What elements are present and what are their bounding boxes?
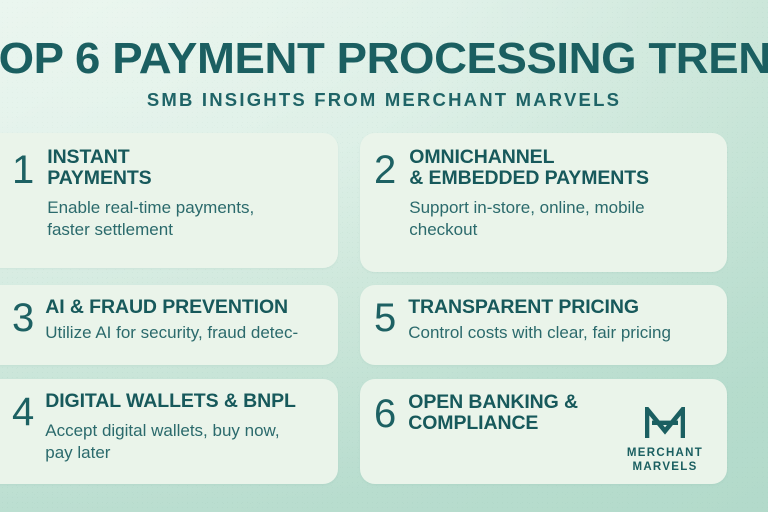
m-monogram-icon xyxy=(645,407,685,440)
trend-number: 4 xyxy=(12,392,33,432)
brand-lockup: MERCHANT MARVELS xyxy=(617,407,713,474)
trend-number: 1 xyxy=(12,150,33,190)
trend-title: OMNICHANNEL & EMBEDDED PAYMENTS xyxy=(409,147,713,189)
trend-card-4: 4 DIGITAL WALLETS & BNPL Accept digital … xyxy=(0,379,338,484)
trend-card-2: 2 OMNICHANNEL & EMBEDDED PAYMENTS Suppor… xyxy=(360,133,727,272)
trend-card-5: 5 TRANSPARENT PRICING Control costs with… xyxy=(360,285,727,365)
trend-number: 2 xyxy=(374,150,395,190)
trend-number: 3 xyxy=(12,298,33,338)
trend-card-1: 1 INSTANT PAYMENTS Enable real-time paym… xyxy=(0,133,338,268)
trend-card-3: 3 AI & FRAUD PREVENTION Utilize AI for s… xyxy=(0,285,338,365)
trend-number: 6 xyxy=(374,394,395,434)
trend-title: INSTANT PAYMENTS xyxy=(47,147,322,189)
trend-description: Support in-store, online, mobile checkou… xyxy=(409,197,713,240)
trend-description: Utilize AI for security, fraud detec- xyxy=(45,322,328,344)
trend-number: 5 xyxy=(374,298,395,338)
trend-title: DIGITAL WALLETS & BNPL xyxy=(45,391,328,412)
trend-description: Enable real-time payments, faster settle… xyxy=(47,197,322,240)
page-subtitle: SMB INSIGHTS FROM MERCHANT MARVELS xyxy=(0,89,768,111)
page-title: TOP 6 PAYMENT PROCESSING TRENDS xyxy=(0,34,768,84)
trend-title: TRANSPARENT PRICING xyxy=(408,297,713,318)
infographic-canvas: TOP 6 PAYMENT PROCESSING TRENDS SMB INSI… xyxy=(0,0,768,512)
trend-title: AI & FRAUD PREVENTION xyxy=(45,297,328,318)
brand-name: MERCHANT MARVELS xyxy=(617,446,713,474)
trend-card-6: 6 OPEN BANKING & COMPLIANCE MERCHANT MAR… xyxy=(360,379,727,484)
trend-description: Accept digital wallets, buy now, pay lat… xyxy=(45,420,328,463)
trend-description: Control costs with clear, fair pricing xyxy=(408,322,713,344)
